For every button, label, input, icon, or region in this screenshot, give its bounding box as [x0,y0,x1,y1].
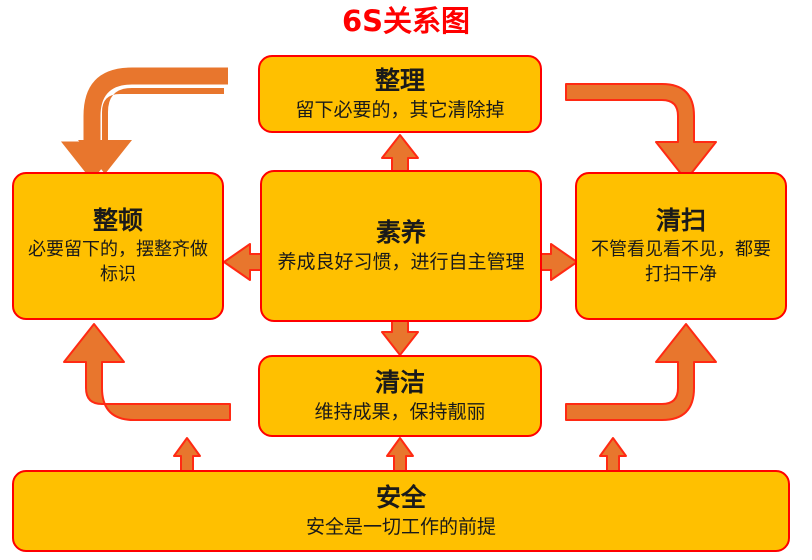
elbow-arrow-topright [566,84,716,180]
node-qingsao[interactable]: 清扫 不管看见看不见，都要打扫干净 [575,172,787,320]
node-zhengli-desc: 留下必要的，其它清除掉 [295,97,504,123]
node-zhengdun-heading: 整顿 [93,205,143,236]
node-qingsao-desc: 不管看见看不见，都要打扫干净 [585,237,777,287]
elbow-arrow-topleft [62,68,228,180]
node-qingjie-desc: 维持成果，保持靓丽 [314,399,485,425]
elbow-arrow-bottomleft [64,324,230,420]
node-anquan-heading: 安全 [376,482,426,513]
node-suyang-heading: 素养 [376,217,426,248]
arrow-suyang-to-zhengli [382,135,418,172]
arrow-suyang-to-zhengdun [224,244,262,280]
node-qingsao-heading: 清扫 [656,205,706,236]
node-qingjie-heading: 清洁 [375,367,425,398]
node-suyang[interactable]: 素养 养成良好习惯，进行自主管理 [260,170,542,322]
node-zhengdun[interactable]: 整顿 必要留下的，摆整齐做标识 [12,172,224,320]
arrow-suyang-to-qingsao [540,244,577,280]
arrow-suyang-to-qingjie [382,320,418,355]
elbow-arrow-zhengli-to-zhengdun [78,88,224,174]
node-zhengli[interactable]: 整理 留下必要的，其它清除掉 [258,55,542,133]
node-zhengli-heading: 整理 [375,65,425,96]
elbow-arrow-bottomright [566,324,716,420]
page-title: 6S关系图 [0,4,812,38]
node-qingjie[interactable]: 清洁 维持成果，保持靓丽 [258,355,542,437]
node-anquan[interactable]: 安全 安全是一切工作的前提 [12,470,790,552]
diagram-canvas: 6S关系图 [0,0,812,560]
node-anquan-desc: 安全是一切工作的前提 [306,514,496,540]
node-zhengdun-desc: 必要留下的，摆整齐做标识 [22,237,214,287]
node-suyang-desc: 养成良好习惯，进行自主管理 [277,249,524,276]
